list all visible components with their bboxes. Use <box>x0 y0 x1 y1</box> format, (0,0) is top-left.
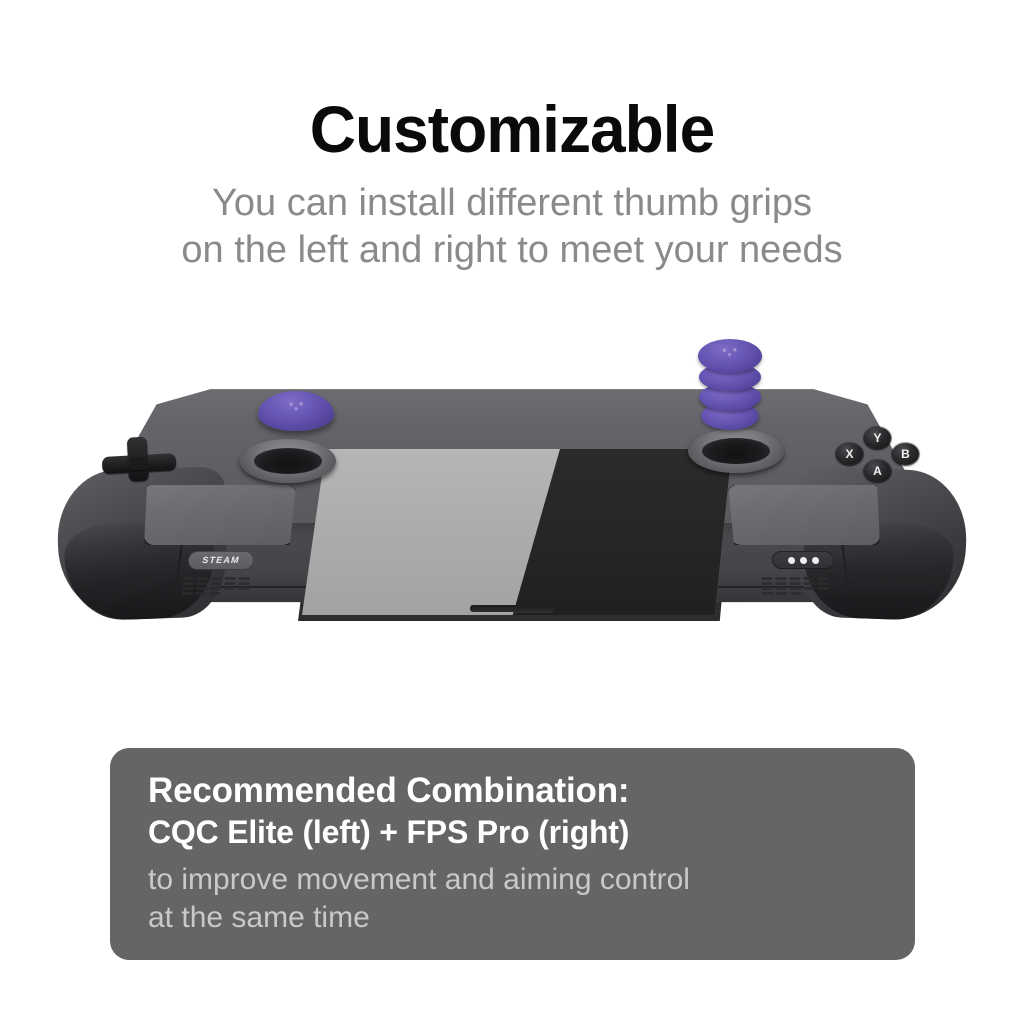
console-chassis: Y X B A STEAM <box>62 373 962 623</box>
recommended-combination-callout: Recommended Combination: CQC Elite (left… <box>110 748 915 960</box>
callout-note-line-2: at the same time <box>148 899 915 937</box>
steam-button[interactable]: STEAM <box>188 551 255 570</box>
front-edge-slot <box>470 605 554 612</box>
callout-title: Recommended Combination: <box>148 770 915 811</box>
button-b[interactable]: B <box>892 443 919 465</box>
quick-access-button[interactable] <box>772 551 835 569</box>
left-thumb-grip-cqc-elite[interactable] <box>258 391 334 445</box>
callout-combination: CQC Elite (left) + FPS Pro (right) <box>148 812 915 852</box>
quick-access-dot-3 <box>811 557 818 564</box>
left-thumbstick-ring <box>254 448 322 474</box>
button-a[interactable]: A <box>864 460 891 482</box>
product-image: Y X B A STEAM <box>0 315 1024 645</box>
console-screen <box>302 449 732 615</box>
face-button-cluster: Y X B A <box>828 427 928 499</box>
left-trackpad[interactable] <box>144 485 296 545</box>
callout-note-line-1: to improve movement and aiming control <box>148 861 915 899</box>
button-y[interactable]: Y <box>864 427 891 449</box>
dpad-center <box>130 457 148 471</box>
right-speaker-grille <box>761 577 843 603</box>
callout-note: to improve movement and aiming control a… <box>148 861 915 937</box>
page-title: Customizable <box>15 96 1008 162</box>
right-grip-texture-emblem <box>719 346 741 358</box>
page-subtitle: You can install different thumb grips on… <box>0 180 1024 274</box>
header-section: Customizable You can install different t… <box>0 0 1024 300</box>
subtitle-line-2: on the left and right to meet your needs <box>0 227 1024 274</box>
left-speaker-grille <box>181 577 263 603</box>
quick-access-dot-1 <box>787 557 794 564</box>
dpad[interactable] <box>97 431 186 491</box>
quick-access-dot-2 <box>799 557 806 564</box>
subtitle-line-1: You can install different thumb grips <box>0 180 1024 227</box>
left-thumbstick-base[interactable] <box>240 439 336 483</box>
right-thumb-grip-fps-pro[interactable] <box>694 339 766 443</box>
button-x[interactable]: X <box>836 443 863 465</box>
left-grip-texture-emblem <box>286 400 307 412</box>
